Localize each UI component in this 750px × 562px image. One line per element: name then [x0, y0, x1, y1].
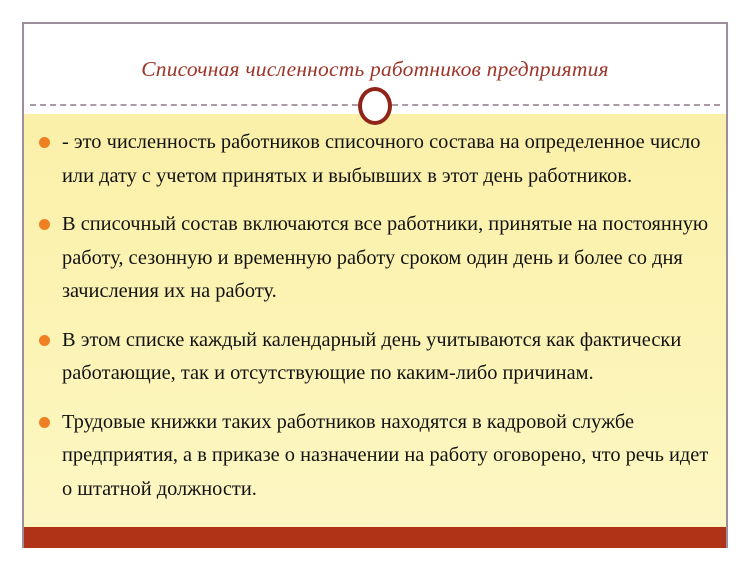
bullet-list: - это численность работников списочного …: [34, 126, 710, 506]
bullet-dot-icon: [39, 137, 50, 148]
list-item: Трудовые книжки таких работников находят…: [34, 406, 710, 507]
list-item: В списочный состав включаются все работн…: [34, 208, 710, 309]
list-item: - это численность работников списочного …: [34, 126, 710, 193]
list-item-text: - это численность работников списочного …: [62, 131, 700, 187]
slide-header: Списочная численность работников предпри…: [24, 24, 726, 114]
list-item-text: В этом списке каждый календарный день уч…: [62, 329, 681, 385]
slide-body: - это численность работников списочного …: [24, 114, 726, 548]
list-item-text: Трудовые книжки таких работников находят…: [62, 411, 708, 500]
list-item: В этом списке каждый календарный день уч…: [34, 324, 710, 391]
bullet-dot-icon: [39, 335, 50, 346]
bullet-dot-icon: [39, 417, 50, 428]
footer-accent-bar: [24, 527, 726, 548]
presentation-slide: Списочная численность работников предпри…: [22, 22, 728, 548]
circle-ornament-icon: [358, 87, 392, 125]
bullet-dot-icon: [39, 219, 50, 230]
list-item-text: В списочный состав включаются все работн…: [62, 213, 708, 302]
slide-title: Списочная численность работников предпри…: [24, 57, 726, 82]
